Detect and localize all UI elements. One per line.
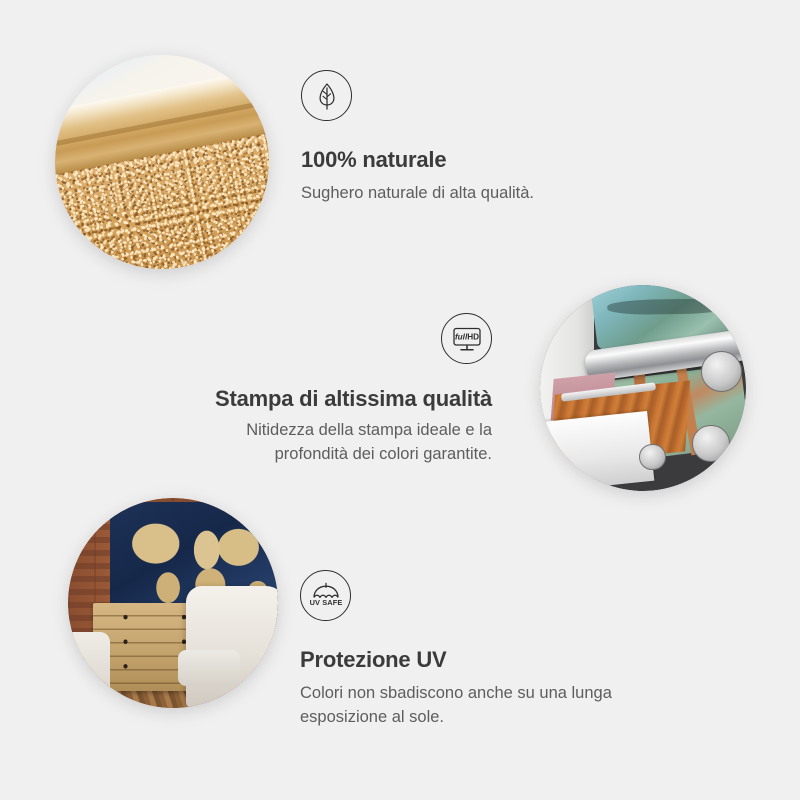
feature-natural: 100% naturale Sughero naturale di alta q… xyxy=(301,70,631,206)
white-armchair xyxy=(186,586,278,708)
feature-natural-icon-wrap xyxy=(301,70,631,121)
uv-safe-label: UV SAFE xyxy=(309,597,342,606)
printer-output-tray xyxy=(540,411,655,491)
cork-texture-photo xyxy=(55,55,269,269)
svg-text:fullHD: fullHD xyxy=(454,332,478,341)
feature-uv-icon-wrap: UV SAFE xyxy=(300,570,670,621)
interior-photo-inner xyxy=(68,498,278,708)
armchair-left xyxy=(68,632,110,703)
uv-safe-umbrella-icon: UV SAFE xyxy=(300,570,351,621)
interior-world-map-photo xyxy=(68,498,278,708)
leaf-icon xyxy=(301,70,352,121)
feature-natural-title: 100% naturale xyxy=(301,147,631,173)
fullhd-monitor-icon: fullHD xyxy=(441,313,492,364)
feature-print-quality: fullHD Stampa di altissima qualità Nitid… xyxy=(180,313,492,467)
feature-print-title: Stampa di altissima qualità xyxy=(180,386,492,412)
cork-photo-inner xyxy=(55,55,269,269)
feature-uv-description: Colori non sbadiscono anche su una lunga… xyxy=(300,682,670,730)
feature-uv-title: Protezione UV xyxy=(300,647,670,673)
feature-print-icon-wrap: fullHD xyxy=(180,313,492,364)
printer-photo-inner xyxy=(540,285,746,491)
printing-machine-photo xyxy=(540,285,746,491)
feature-natural-description: Sughero naturale di alta qualità. xyxy=(301,182,631,206)
printer-wheel xyxy=(692,425,729,462)
feature-uv-protection: UV SAFE Protezione UV Colori non sbadisc… xyxy=(300,570,670,730)
feature-print-description: Nitidezza della stampa ideale e la profo… xyxy=(180,419,492,467)
printer-wheel xyxy=(639,444,666,471)
printer-wheel xyxy=(701,351,742,392)
feature-showcase: 100% naturale Sughero naturale di alta q… xyxy=(0,0,800,800)
